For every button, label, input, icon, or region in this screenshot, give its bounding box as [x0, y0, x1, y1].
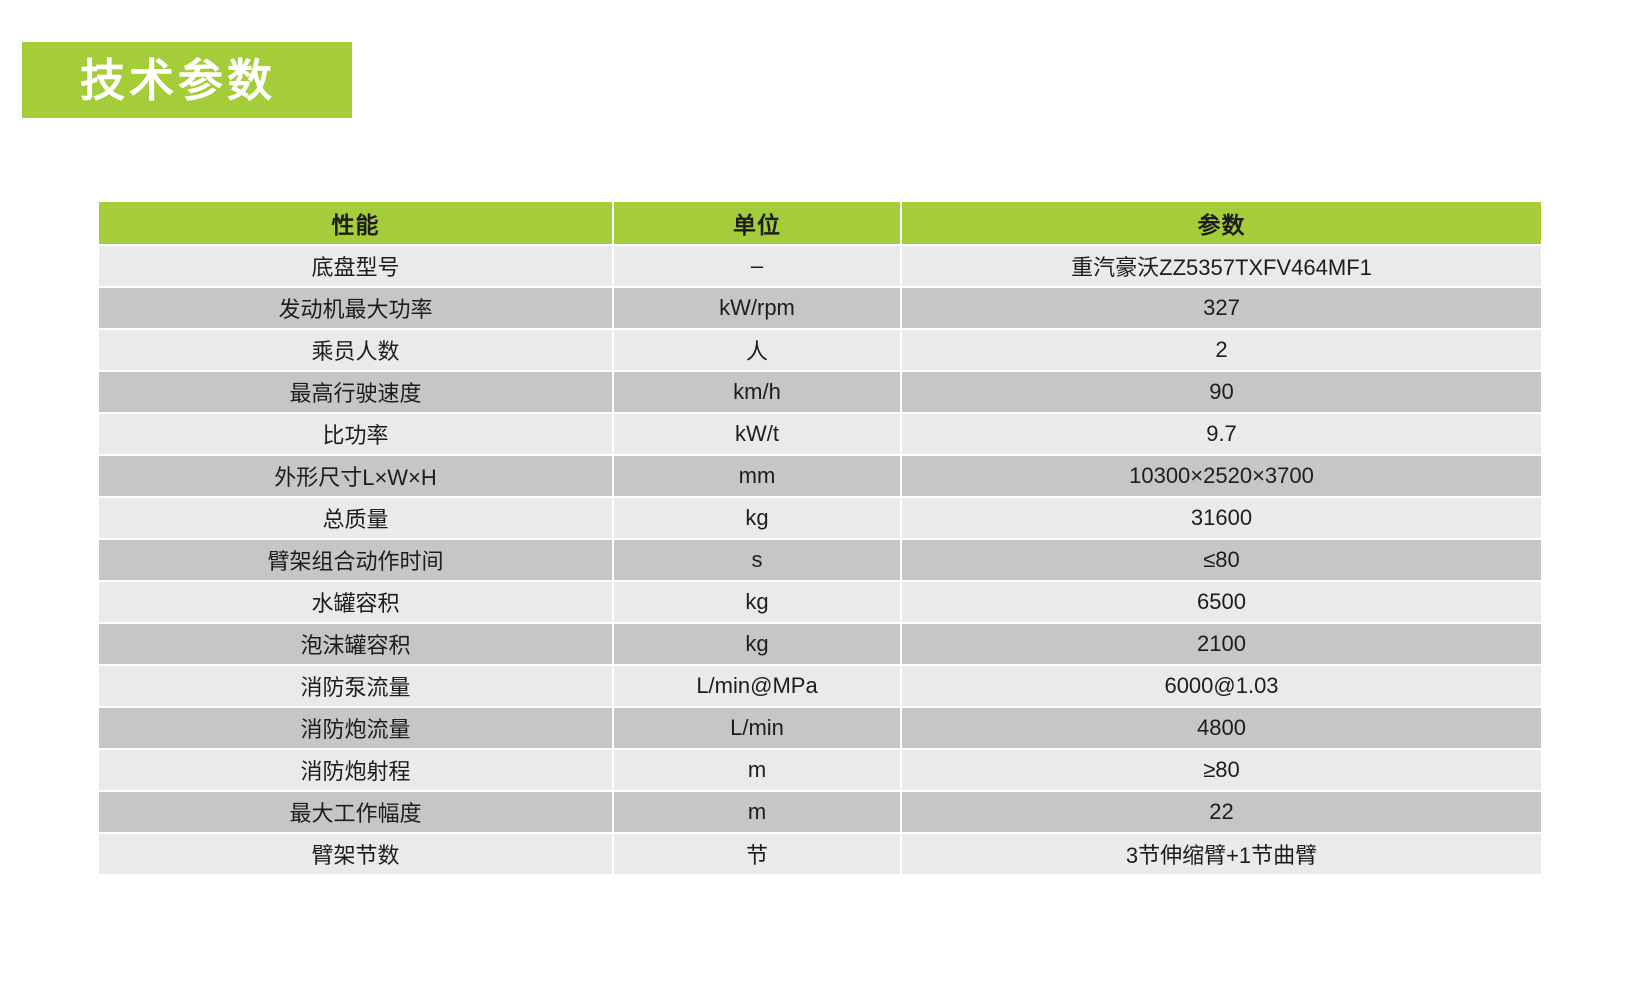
cell-unit: kW/rpm: [614, 288, 900, 328]
table-row: 乘员人数人2: [99, 330, 1541, 370]
cell-performance: 总质量: [99, 498, 612, 538]
cell-performance: 外形尺寸L×W×H: [99, 456, 612, 496]
cell-parameter: 4800: [902, 708, 1541, 748]
cell-parameter: 2: [902, 330, 1541, 370]
table-row: 最大工作幅度m22: [99, 792, 1541, 832]
cell-unit: L/min: [614, 708, 900, 748]
cell-performance: 消防炮流量: [99, 708, 612, 748]
cell-parameter: 31600: [902, 498, 1541, 538]
cell-parameter: 327: [902, 288, 1541, 328]
cell-performance: 泡沫罐容积: [99, 624, 612, 664]
cell-performance: 消防泵流量: [99, 666, 612, 706]
table-row: 底盘型号–重汽豪沃ZZ5357TXFV464MF1: [99, 246, 1541, 286]
cell-parameter: 10300×2520×3700: [902, 456, 1541, 496]
cell-performance: 乘员人数: [99, 330, 612, 370]
page-title-banner: 技术参数: [22, 42, 352, 118]
table-row: 比功率kW/t9.7: [99, 414, 1541, 454]
cell-performance: 最高行驶速度: [99, 372, 612, 412]
table-row: 外形尺寸L×W×Hmm10300×2520×3700: [99, 456, 1541, 496]
cell-parameter: 90: [902, 372, 1541, 412]
cell-performance: 臂架组合动作时间: [99, 540, 612, 580]
technical-parameters-table: 性能 单位 参数 底盘型号–重汽豪沃ZZ5357TXFV464MF1发动机最大功…: [97, 200, 1543, 876]
table-row: 总质量kg31600: [99, 498, 1541, 538]
cell-parameter: 2100: [902, 624, 1541, 664]
table-row: 消防炮流量L/min4800: [99, 708, 1541, 748]
cell-performance: 底盘型号: [99, 246, 612, 286]
cell-performance: 水罐容积: [99, 582, 612, 622]
column-header-performance: 性能: [99, 202, 612, 244]
cell-parameter: 22: [902, 792, 1541, 832]
cell-performance: 发动机最大功率: [99, 288, 612, 328]
table-row: 发动机最大功率kW/rpm327: [99, 288, 1541, 328]
cell-performance: 消防炮射程: [99, 750, 612, 790]
column-header-parameter: 参数: [902, 202, 1541, 244]
cell-parameter: 6000@1.03: [902, 666, 1541, 706]
cell-unit: –: [614, 246, 900, 286]
cell-performance: 臂架节数: [99, 834, 612, 874]
table-header-row: 性能 单位 参数: [99, 202, 1541, 244]
table-row: 臂架节数节3节伸缩臂+1节曲臂: [99, 834, 1541, 874]
cell-unit: kW/t: [614, 414, 900, 454]
cell-unit: kg: [614, 498, 900, 538]
table-row: 消防泵流量L/min@MPa6000@1.03: [99, 666, 1541, 706]
table-row: 最高行驶速度km/h90: [99, 372, 1541, 412]
cell-parameter: 9.7: [902, 414, 1541, 454]
cell-performance: 比功率: [99, 414, 612, 454]
column-header-unit: 单位: [614, 202, 900, 244]
cell-unit: m: [614, 792, 900, 832]
page-title: 技术参数: [80, 58, 276, 103]
table-body: 底盘型号–重汽豪沃ZZ5357TXFV464MF1发动机最大功率kW/rpm32…: [99, 246, 1541, 874]
cell-unit: 人: [614, 330, 900, 370]
table-row: 臂架组合动作时间s≤80: [99, 540, 1541, 580]
cell-parameter: ≤80: [902, 540, 1541, 580]
cell-unit: km/h: [614, 372, 900, 412]
cell-unit: mm: [614, 456, 900, 496]
cell-unit: s: [614, 540, 900, 580]
cell-performance: 最大工作幅度: [99, 792, 612, 832]
table-row: 水罐容积kg6500: [99, 582, 1541, 622]
cell-unit: kg: [614, 582, 900, 622]
cell-parameter: 3节伸缩臂+1节曲臂: [902, 834, 1541, 874]
cell-unit: kg: [614, 624, 900, 664]
cell-parameter: 6500: [902, 582, 1541, 622]
cell-unit: L/min@MPa: [614, 666, 900, 706]
table-row: 泡沫罐容积kg2100: [99, 624, 1541, 664]
cell-parameter: 重汽豪沃ZZ5357TXFV464MF1: [902, 246, 1541, 286]
cell-unit: m: [614, 750, 900, 790]
cell-unit: 节: [614, 834, 900, 874]
cell-parameter: ≥80: [902, 750, 1541, 790]
table-row: 消防炮射程m≥80: [99, 750, 1541, 790]
